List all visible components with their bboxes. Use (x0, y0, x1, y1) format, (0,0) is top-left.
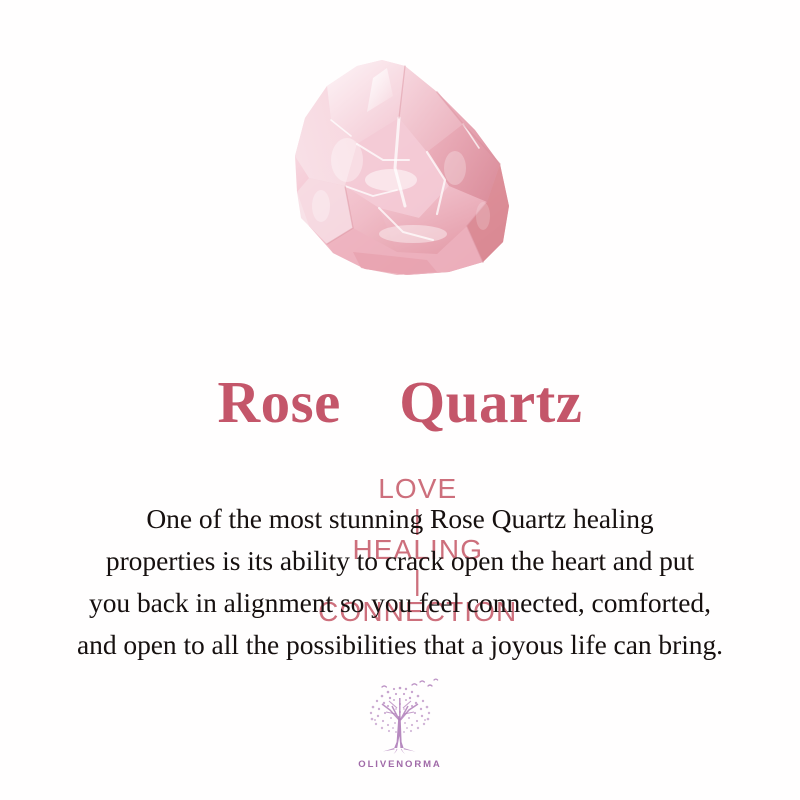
flying-birds-icon (382, 679, 438, 687)
rose-quartz-info-card: Rose Quartz LOVE | HEALING | CONNECTION … (0, 0, 800, 800)
rose-quartz-crystal-icon (287, 56, 515, 278)
brand-wordmark: OLIVENORMA (358, 759, 441, 770)
description-line: One of the most stunning Rose Quartz hea… (22, 498, 778, 540)
tree-of-life-icon (352, 676, 448, 758)
product-description: One of the most stunning Rose Quartz hea… (22, 498, 778, 666)
description-line: you back in alignment so you feel connec… (22, 582, 778, 624)
description-line: properties is its ability to crack open … (22, 540, 778, 582)
brand-logo: OLIVENORMA (0, 676, 800, 770)
page-title: Rose Quartz (0, 372, 800, 434)
description-line: and open to all the possibilities that a… (22, 624, 778, 666)
rose-quartz-crystal-image (287, 56, 515, 278)
